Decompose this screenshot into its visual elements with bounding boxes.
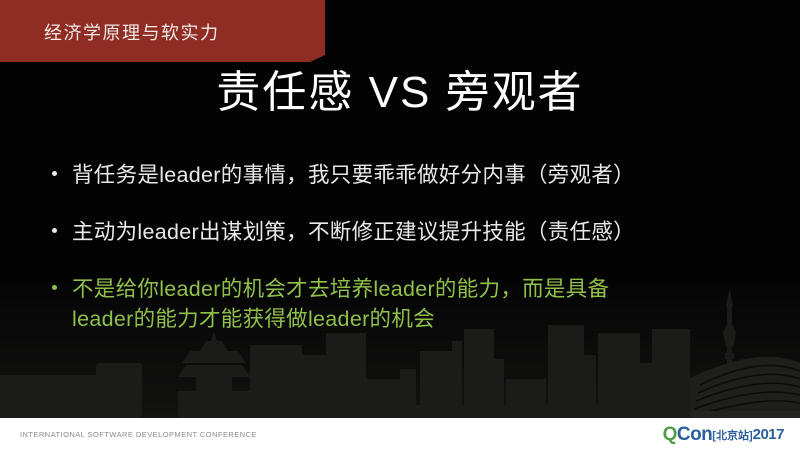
bullet-text-1: 背任务是leader的事情，我只要乖乖做好分内事（旁观者）	[72, 163, 635, 187]
qcon-logo-q: Q	[663, 424, 677, 445]
bullet-item-3: 不是给你leader的机会才去培养leader的能力，而是具备 leader的能…	[44, 274, 764, 334]
qcon-logo-con: Con	[677, 424, 712, 445]
bullet-text-3-line2: leader的能力才能获得做leader的机会	[72, 304, 764, 334]
bullet-item-2: 主动为leader出谋划策，不断修正建议提升技能（责任感）	[44, 217, 764, 247]
conference-caption: INTERNATIONAL SOFTWARE DEVELOPMENT CONFE…	[20, 430, 257, 439]
qcon-logo: QCon[北京站]2017	[663, 425, 784, 447]
header-banner: 经济学原理与软实力	[0, 0, 325, 62]
bullet-text-3-line1: 不是给你leader的机会才去培养leader的能力，而是具备	[72, 277, 609, 301]
bullet-list: 背任务是leader的事情，我只要乖乖做好分内事（旁观者） 主动为leader出…	[44, 160, 764, 361]
footer-bar: INTERNATIONAL SOFTWARE DEVELOPMENT CONFE…	[0, 418, 800, 451]
bullet-dot-icon	[52, 285, 57, 290]
qcon-logo-city: [北京站]	[712, 430, 752, 442]
slide-canvas: 经济学原理与软实力 责任感 VS 旁观者 背任务是leader的事情，我只要乖乖…	[0, 0, 800, 451]
bullet-text-2: 主动为leader出谋划策，不断修正建议提升技能（责任感）	[72, 220, 635, 244]
bullet-dot-icon	[52, 228, 57, 233]
bullet-item-1: 背任务是leader的事情，我只要乖乖做好分内事（旁观者）	[44, 160, 764, 190]
page-title: 责任感 VS 旁观者	[0, 56, 800, 120]
bullet-dot-icon	[52, 171, 57, 176]
qcon-logo-year: 2017	[753, 426, 784, 443]
banner-title: 经济学原理与软实力	[44, 19, 220, 45]
